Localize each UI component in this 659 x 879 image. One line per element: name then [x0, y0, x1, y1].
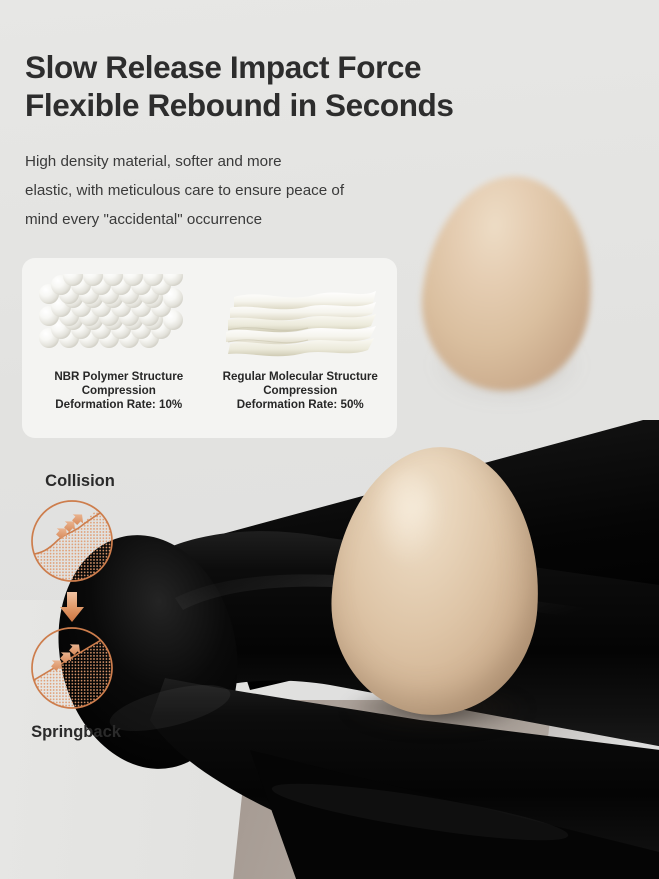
down-arrow-icon: [57, 590, 87, 624]
regular-caption-line-1: Regular Molecular Structure: [223, 370, 378, 384]
sphere-lattice-icon: [33, 274, 205, 366]
nbr-caption-line-3: Deformation Rate: 10%: [54, 398, 183, 412]
product-infographic: Slow Release Impact Force Flexible Rebou…: [0, 0, 659, 879]
subtitle-line-1: High density material, softer and more: [25, 147, 445, 176]
collision-label: Collision: [24, 472, 136, 491]
sphere-lattice-image: [28, 272, 210, 368]
transition-arrow: [28, 590, 116, 624]
layered-sheets-icon: [216, 280, 384, 360]
resting-egg-highlight: [372, 470, 442, 566]
comparison-column-nbr: NBR Polymer Structure Compression Deform…: [28, 272, 210, 428]
subtitle-line-2: elastic, with meticulous care to ensure …: [25, 176, 445, 205]
nbr-caption-line-2: Compression: [54, 384, 183, 398]
springback-circle: [28, 624, 168, 717]
headline-line-2: Flexible Rebound in Seconds: [25, 86, 625, 124]
regular-caption-line-2: Compression: [223, 384, 378, 398]
regular-caption: Regular Molecular Structure Compression …: [223, 370, 378, 413]
headline-line-1: Slow Release Impact Force: [25, 49, 421, 85]
nbr-caption: NBR Polymer Structure Compression Deform…: [54, 370, 183, 413]
subtitle-line-3: mind every "accidental" occurrence: [25, 205, 445, 234]
nbr-caption-line-1: NBR Polymer Structure: [54, 370, 183, 384]
comparison-column-regular: Regular Molecular Structure Compression …: [210, 272, 392, 428]
dented-circle-icon: [28, 497, 116, 585]
collision-circle: [28, 497, 168, 590]
layered-sheets-image: [210, 272, 392, 368]
page-title: Slow Release Impact Force Flexible Rebou…: [25, 48, 625, 124]
springback-label: Springback: [20, 723, 132, 742]
impact-rebound-diagram: Collision: [18, 472, 168, 742]
regular-caption-line-3: Deformation Rate: 50%: [223, 398, 378, 412]
flat-circle-icon: [28, 624, 116, 712]
subtitle-paragraph: High density material, softer and more e…: [25, 147, 445, 234]
structure-comparison-card: NBR Polymer Structure Compression Deform…: [22, 258, 397, 438]
